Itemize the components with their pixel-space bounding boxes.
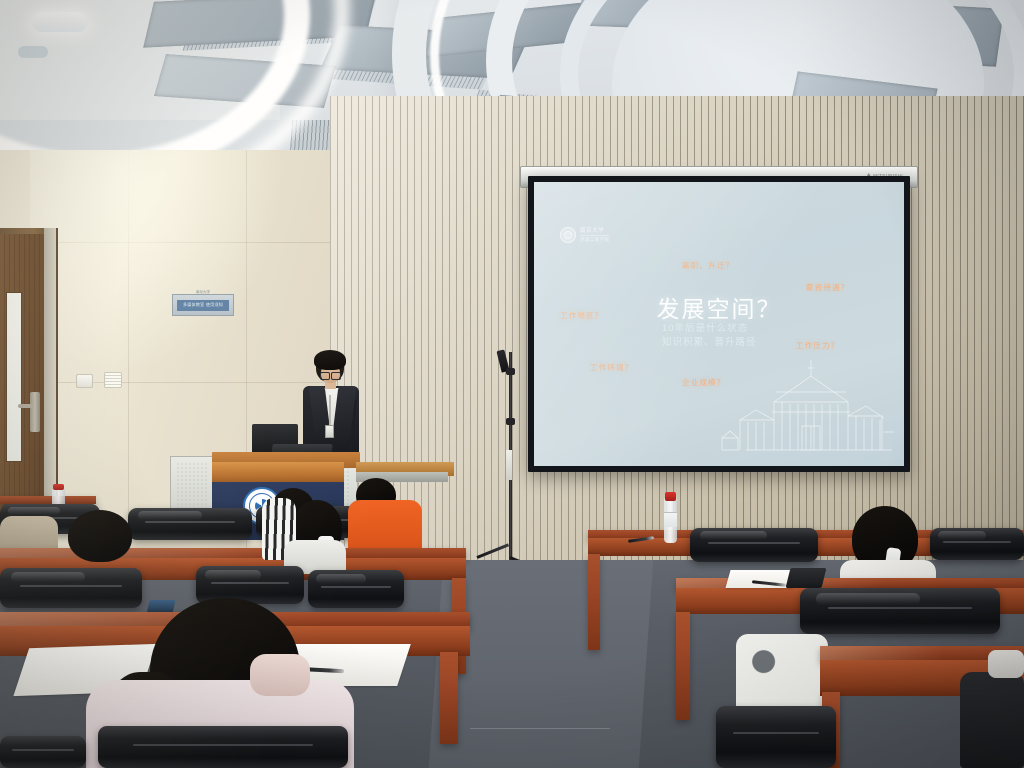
lecture-hall-photo: 南京大学 多媒体教室 使用须知 MITSUBISHI 南京大学 环境工程学院 发… bbox=[0, 0, 1024, 768]
wall-plaque: 多媒体教室 使用须知 bbox=[172, 294, 234, 316]
door-lever[interactable] bbox=[18, 404, 34, 408]
ceiling-downlight bbox=[32, 12, 88, 32]
ceiling-downlight-small bbox=[18, 46, 48, 58]
desk-top bbox=[0, 496, 96, 504]
bottle-label bbox=[664, 512, 677, 527]
eyeglasses-icon bbox=[320, 372, 341, 378]
bottle-cap bbox=[665, 492, 676, 501]
podium-wood-panel bbox=[212, 462, 344, 484]
projection-screen: 南京大学 环境工程学院 发展空间？ 10年后是什么状态 知识积累、晋升路径 离职… bbox=[528, 176, 910, 472]
audience-sleeve bbox=[988, 650, 1024, 678]
chair-back[interactable] bbox=[98, 726, 348, 768]
slide-canvas: 南京大学 环境工程学院 发展空间？ 10年后是什么状态 知识积累、晋升路径 离职… bbox=[534, 182, 904, 466]
desk-leg bbox=[440, 652, 458, 744]
speaker-lanyard bbox=[329, 395, 331, 425]
floor-seam bbox=[470, 728, 610, 729]
wall-plaque-text: 多媒体教室 使用须知 bbox=[177, 300, 229, 311]
chair-back[interactable] bbox=[716, 706, 836, 768]
audience-dark-jacket bbox=[960, 672, 1024, 768]
door-handle[interactable] bbox=[30, 392, 40, 432]
chair-back[interactable] bbox=[930, 528, 1024, 560]
chair-back[interactable] bbox=[800, 588, 1000, 634]
door-glass-panel bbox=[6, 292, 22, 462]
chair-back[interactable] bbox=[0, 736, 86, 768]
tablet-device[interactable] bbox=[786, 568, 827, 588]
audience-hair bbox=[68, 510, 132, 562]
bottle-cap bbox=[53, 484, 64, 490]
mic-stand-collar bbox=[506, 450, 512, 480]
door-jamb bbox=[44, 228, 56, 528]
speaker-hair bbox=[314, 350, 346, 370]
thermostat-panel[interactable] bbox=[104, 372, 122, 388]
desk-leg bbox=[676, 612, 690, 720]
screen-glare bbox=[534, 182, 904, 466]
wall-light-glow bbox=[30, 150, 290, 380]
chair-back[interactable] bbox=[0, 568, 142, 608]
mic-stand-knob[interactable] bbox=[506, 368, 515, 375]
speaker-id-badge bbox=[325, 425, 334, 438]
chair-back[interactable] bbox=[128, 508, 252, 540]
chair-back[interactable] bbox=[308, 570, 404, 608]
desk-leg bbox=[588, 554, 600, 650]
light-switch[interactable] bbox=[76, 374, 93, 388]
chair-back[interactable] bbox=[690, 528, 818, 562]
mic-stand-knob[interactable] bbox=[506, 418, 515, 425]
foreground-student-face bbox=[250, 654, 310, 696]
